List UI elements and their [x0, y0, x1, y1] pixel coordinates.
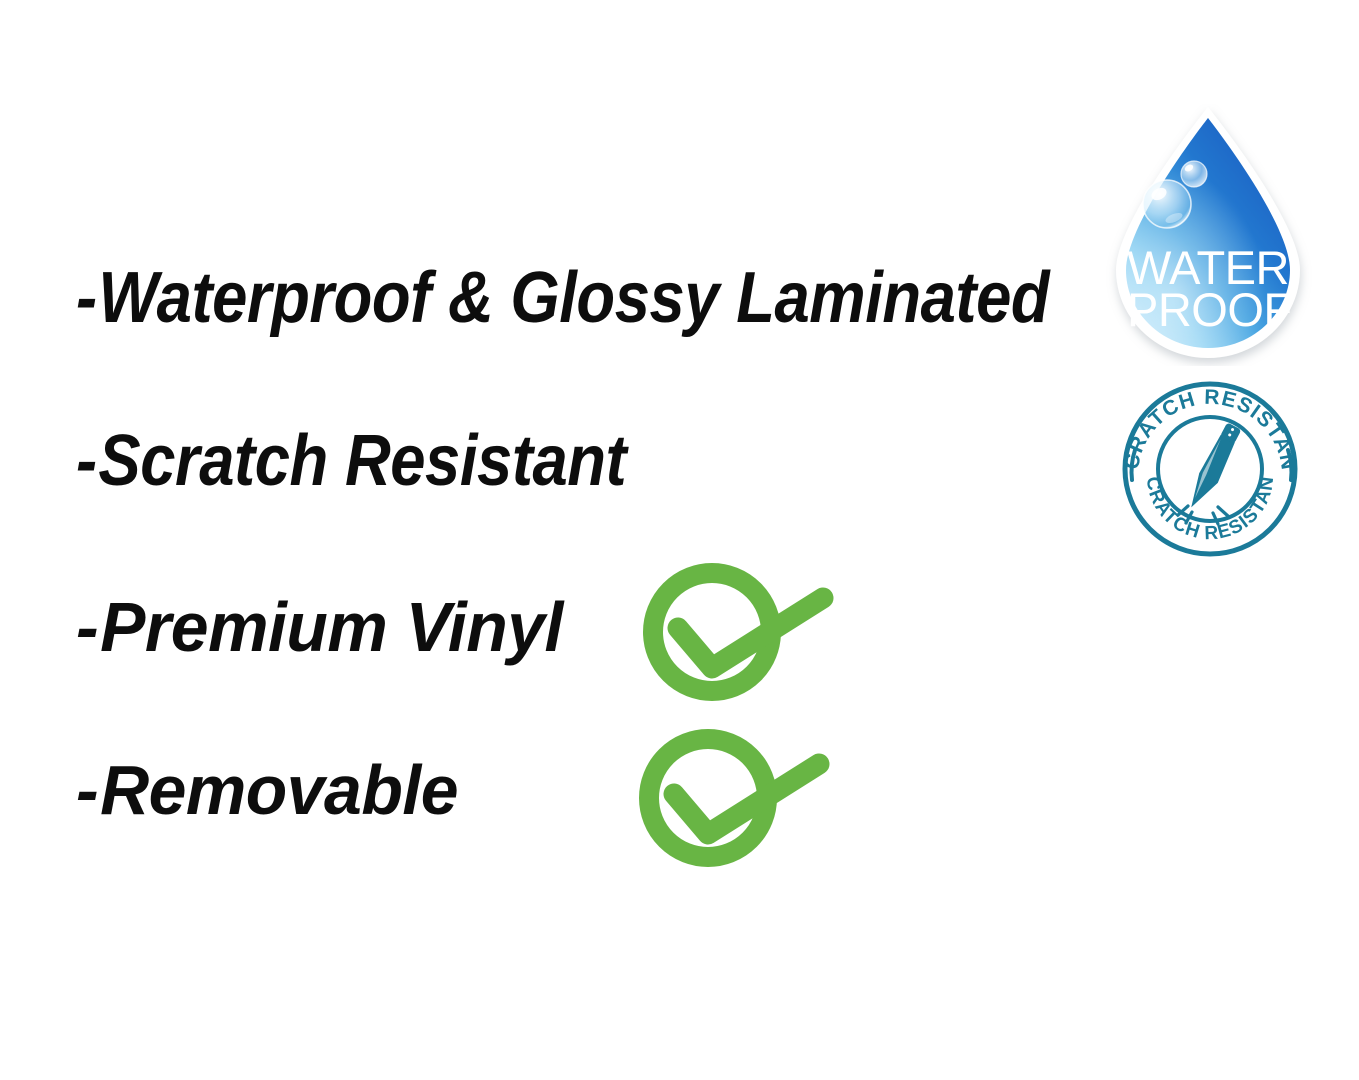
- feature-item-waterproof: -Waterproof & Glossy Laminated: [76, 262, 1049, 334]
- feature-bullet-dash: -: [76, 425, 97, 497]
- knife-icon: [1183, 422, 1245, 513]
- feature-list: -Waterproof & Glossy Laminated -Scratch …: [0, 0, 1100, 1080]
- check-tick-icon: [678, 598, 823, 668]
- feature-item-removable: -Removable: [76, 755, 458, 825]
- feature-label: Scratch Resistant: [98, 421, 626, 501]
- feature-item-premium-vinyl: -Premium Vinyl: [76, 592, 563, 662]
- waterproof-badge: WATER PROOF: [1104, 104, 1312, 366]
- stamp-text-top: SCRATCH RESISTANT: [1114, 380, 1300, 472]
- feature-bullet-dash: -: [76, 592, 98, 662]
- feature-bullet-dash: -: [76, 262, 97, 334]
- feature-bullet-dash: -: [76, 755, 98, 825]
- feature-label: Removable: [100, 751, 458, 829]
- feature-label: Waterproof & Glossy Laminated: [98, 258, 1049, 338]
- bubble-large-icon: [1143, 180, 1191, 228]
- bubble-small-icon: [1181, 161, 1207, 187]
- scratch-resistant-badge: SCRATCH RESISTANT SCRATCH RESISTANT: [1114, 380, 1306, 558]
- feature-item-scratch-resistant: -Scratch Resistant: [76, 425, 626, 497]
- waterproof-line2-text: PROOF: [1127, 283, 1292, 336]
- check-tick-icon: [674, 764, 819, 834]
- feature-label: Premium Vinyl: [100, 588, 563, 666]
- check-circle-1: [640, 556, 836, 708]
- check-circle-2: [636, 722, 832, 874]
- poster-canvas: -Waterproof & Glossy Laminated -Scratch …: [0, 0, 1359, 1080]
